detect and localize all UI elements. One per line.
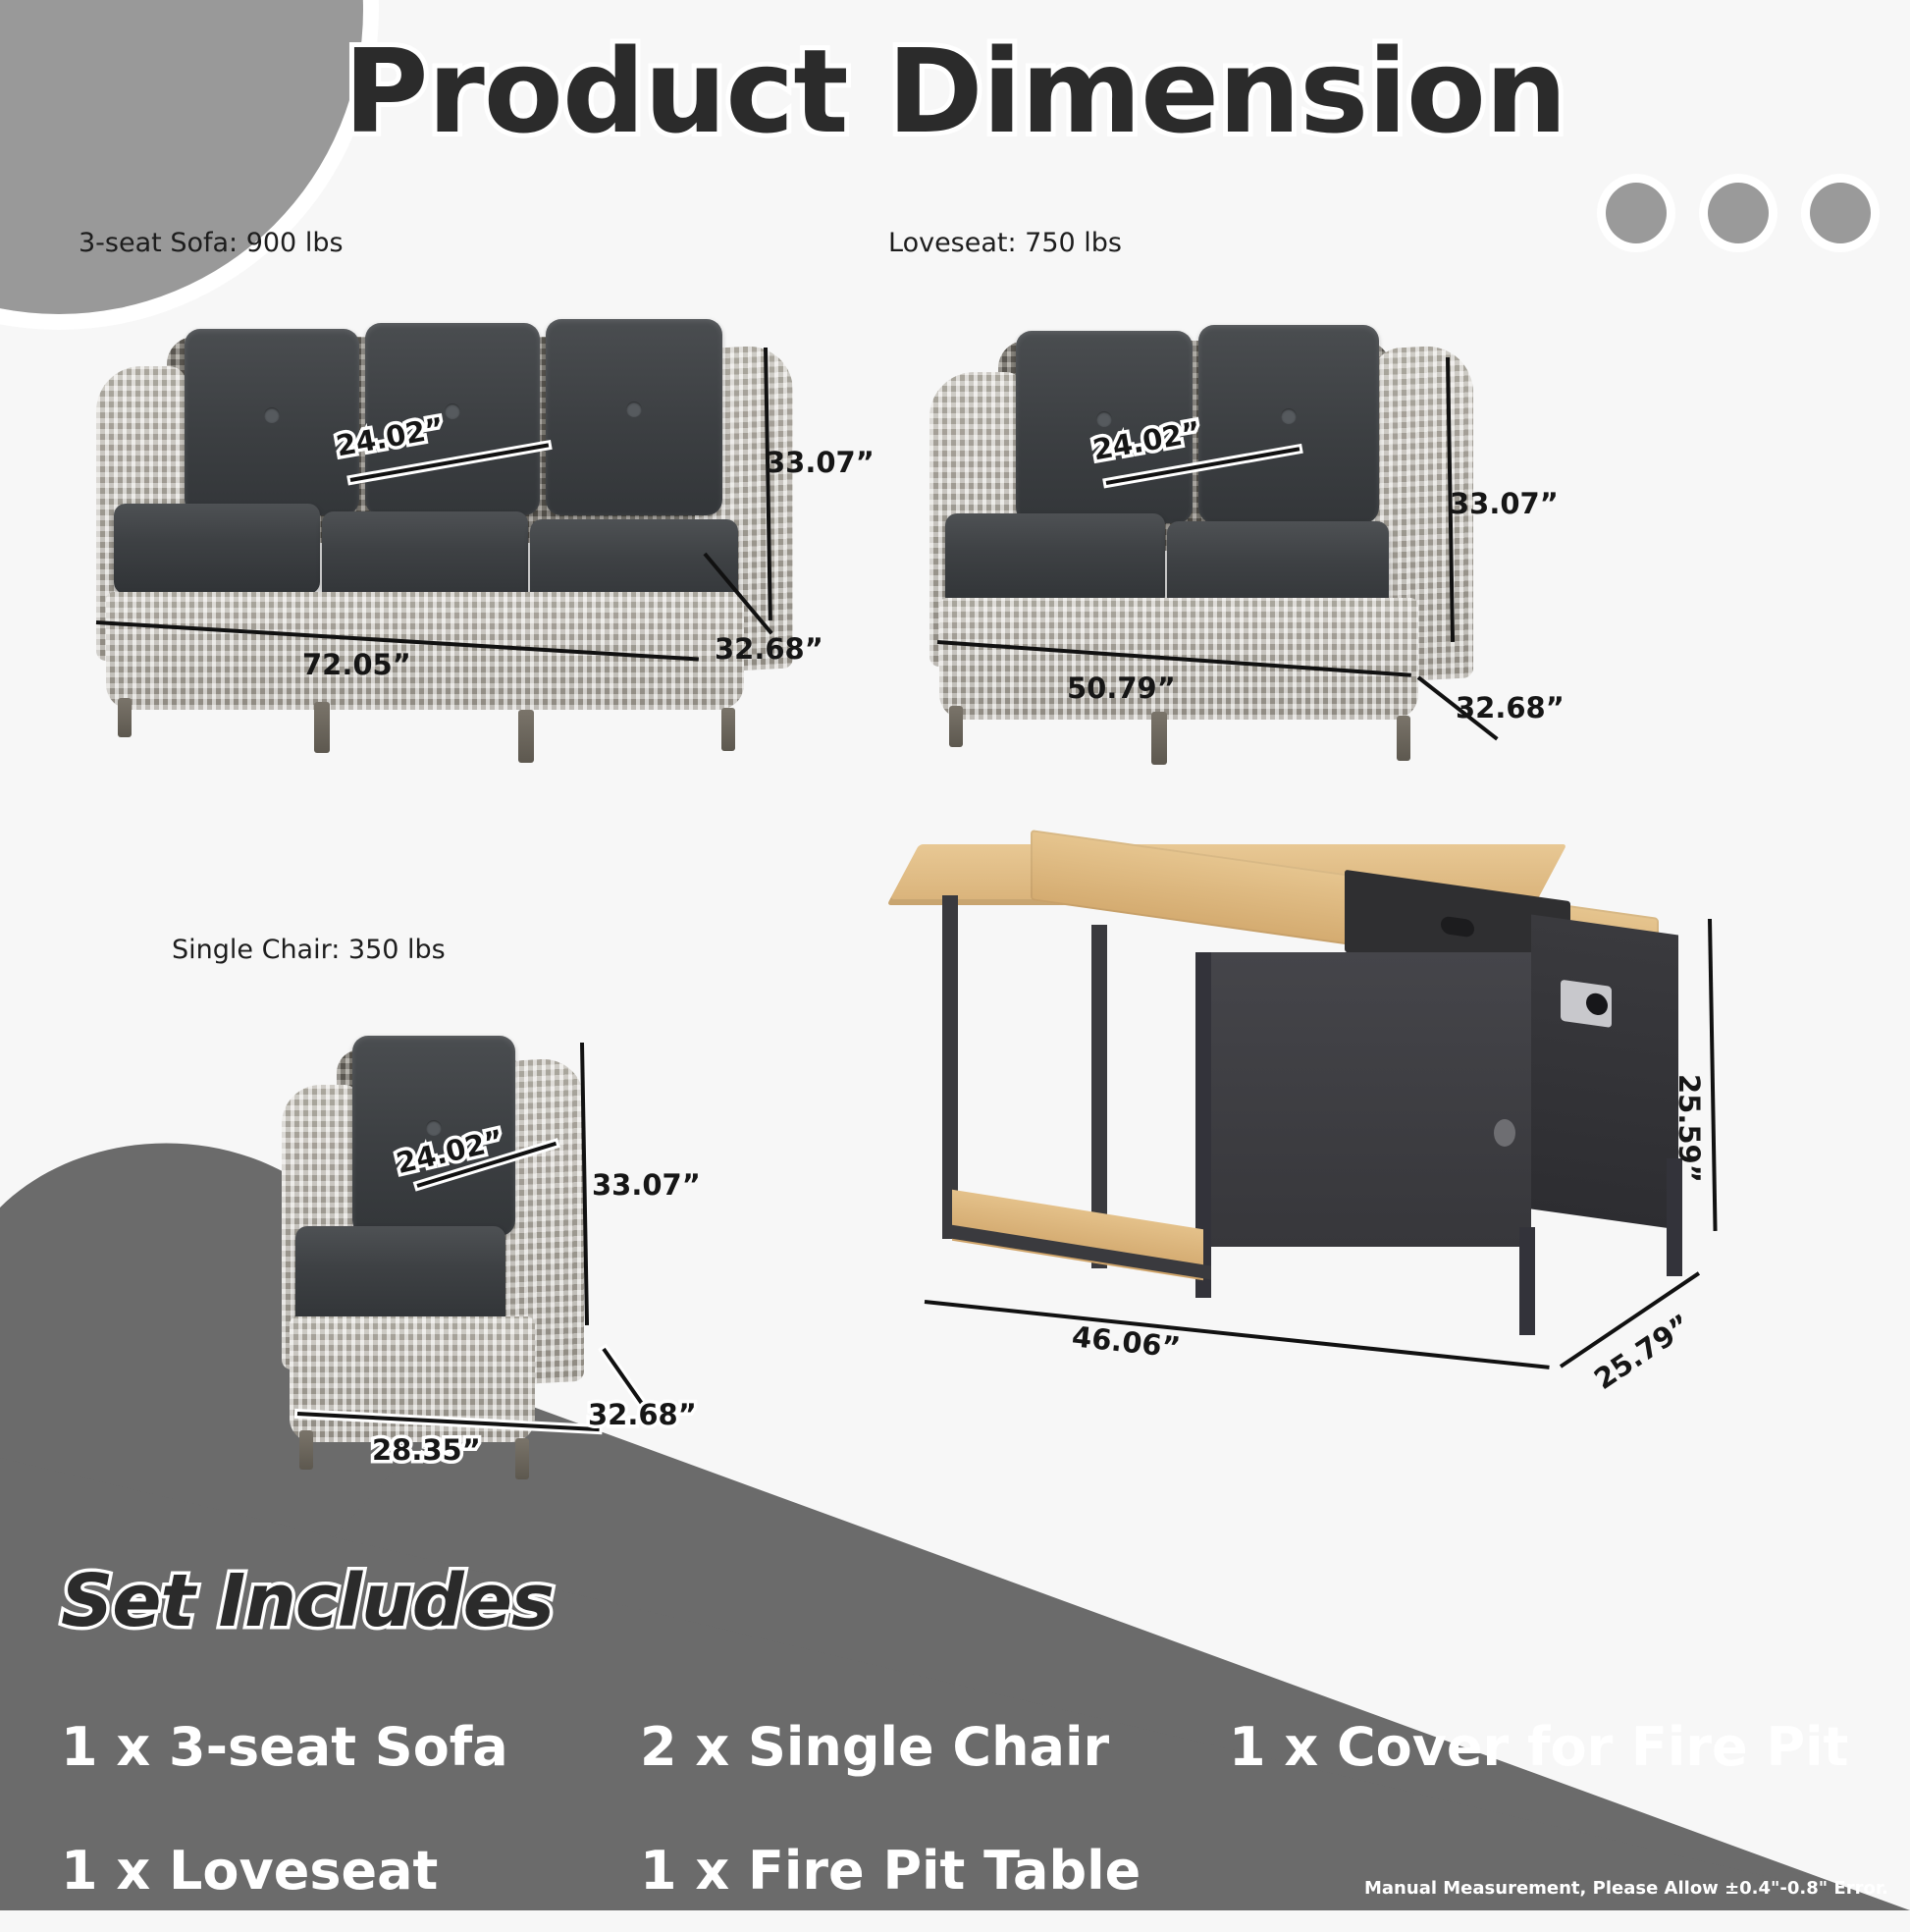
product-block-chair: Single Chair: 350 lbs 24.02” 33.07” 28.3… bbox=[172, 935, 721, 1464]
chair-width-label: 28.35” bbox=[372, 1433, 481, 1467]
product-block-sofa: 3-seat Sofa: 900 lbs 24.02” 33.07” 72.05… bbox=[79, 228, 864, 757]
firepit-control-knob bbox=[1586, 992, 1608, 1016]
firepit-cabinet-side bbox=[1531, 914, 1678, 1229]
chair-caption: Single Chair: 350 lbs bbox=[172, 935, 721, 965]
loveseat-caption: Loveseat: 750 lbs bbox=[888, 228, 1673, 258]
set-include-item: 1 x Fire Pit Table bbox=[640, 1840, 1229, 1902]
chair-illustration bbox=[172, 1002, 721, 1464]
sofa-illustration bbox=[79, 286, 864, 757]
loveseat-height-label: 33.07” bbox=[1450, 487, 1559, 520]
set-includes-heading: Set Includes bbox=[61, 1559, 554, 1643]
loveseat-width-label: 50.79” bbox=[1067, 671, 1176, 705]
footer-disclaimer: Manual Measurement, Please Allow ±0.4"-0… bbox=[1364, 1878, 1888, 1899]
firepit-cabinet-door bbox=[1207, 952, 1531, 1247]
firepit-control-panel bbox=[1561, 980, 1612, 1028]
sofa-caption: 3-seat Sofa: 900 lbs bbox=[79, 228, 864, 258]
set-include-item: 1 x Cover for Fire Pit bbox=[1229, 1716, 1857, 1778]
sofa-height-label: 33.07” bbox=[766, 446, 875, 479]
page-title: Product Dimension bbox=[0, 24, 1910, 159]
sofa-width-label: 72.05” bbox=[302, 648, 411, 681]
set-include-item: 1 x 3-seat Sofa bbox=[61, 1716, 640, 1778]
chair-depth-label: 32.68” bbox=[588, 1398, 697, 1431]
firepit-illustration bbox=[883, 834, 1865, 1384]
decorative-dot-2 bbox=[1708, 183, 1769, 243]
product-block-firepit: 25.59” 46.06” 25.79” bbox=[883, 834, 1865, 1384]
chair-height-label: 33.07” bbox=[592, 1168, 701, 1202]
sofa-depth-label: 32.68” bbox=[715, 632, 823, 666]
firepit-height-label: 25.59” bbox=[1672, 1074, 1706, 1183]
decorative-dot-3 bbox=[1810, 183, 1871, 243]
set-include-item: 2 x Single Chair bbox=[640, 1716, 1229, 1778]
loveseat-depth-label: 32.68” bbox=[1456, 691, 1565, 724]
firepit-door-knob bbox=[1494, 1119, 1515, 1147]
product-block-loveseat: Loveseat: 750 lbs 24.02” 33.07” 50.79” 3… bbox=[888, 228, 1673, 767]
set-include-item: 1 x Loveseat bbox=[61, 1840, 640, 1902]
